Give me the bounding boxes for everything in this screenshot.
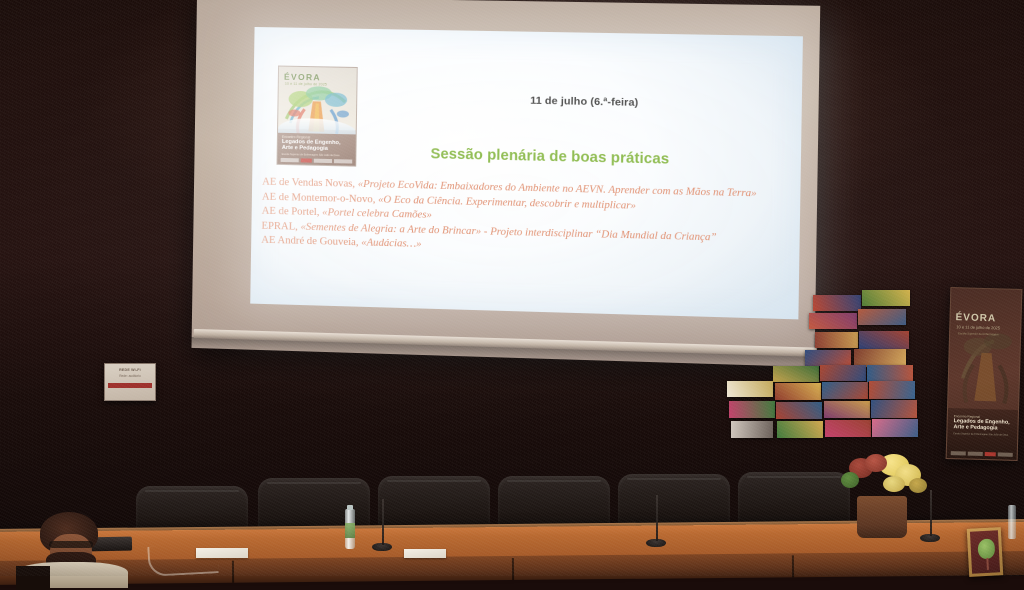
- power-cable: [147, 543, 218, 577]
- slide-poster-thumbnail: ÉVORA 10 e 11 de julho de 2025 Encontro …: [277, 66, 358, 167]
- poster-title: ÉVORA: [284, 72, 321, 83]
- wall-poster-footer: Encontro Regional Legados de Engenho, Ar…: [947, 408, 1018, 460]
- poster-footer-note: Escola Superior de Enfermagem São João d…: [282, 153, 352, 158]
- wall-poster-logo-strip: [951, 451, 1013, 457]
- wifi-sign-line1: REDE Wi-Fi: [108, 368, 152, 372]
- seated-attendee: [16, 512, 120, 576]
- collage-photo-tile: [822, 382, 868, 399]
- logo-mark: [281, 158, 299, 162]
- collage-photo-tile: [809, 313, 857, 329]
- slide-entry-school: AE de Vendas Novas,: [262, 177, 358, 190]
- logo-mark: [334, 159, 352, 163]
- microphone-stem: [656, 495, 658, 541]
- slide-entry-school: AE André de Gouveia,: [261, 235, 361, 249]
- collage-photo-tile: [731, 421, 773, 438]
- poster-logo-strip: [281, 158, 353, 164]
- person-jacket: [16, 566, 50, 590]
- collage-photo-tile: [825, 420, 871, 437]
- collage-photo-tile: [871, 400, 917, 418]
- bottle-cap: [347, 505, 353, 510]
- flower-arrangement: [835, 452, 931, 538]
- collage-photo-tile: [872, 419, 918, 437]
- logo-mark: [968, 452, 983, 456]
- collage-photo-tile: [859, 331, 909, 349]
- auditorium-scene: ÉVORA 10 e 11 de julho de 2025 Encontro …: [0, 0, 1024, 576]
- poster-subtitle: 10 e 11 de julho de 2025: [285, 82, 327, 87]
- person-glasses: [49, 541, 93, 548]
- collage-photo-tile: [813, 295, 861, 311]
- wall-photo-collage: [721, 287, 921, 450]
- microphone-stem: [382, 499, 384, 545]
- collage-photo-tile: [820, 365, 866, 381]
- slide-entry-school: AE de Montemor-o-Novo,: [262, 191, 378, 205]
- logo-mark: [314, 159, 332, 163]
- logo-mark-red: [985, 452, 996, 456]
- water-bottle: [345, 509, 355, 549]
- collage-photo-tile: [869, 381, 915, 399]
- table-panel-seam: [792, 555, 794, 577]
- collage-photo-tile: [776, 402, 822, 419]
- wifi-notice-sign: REDE Wi-Fi Rede: auditorio: [104, 363, 156, 401]
- collage-photo-tile: [805, 350, 851, 366]
- slide-entry-school: EPRAL,: [261, 220, 300, 232]
- wall-poster-footer-note: Escola Superior de Enfermagem São João d…: [953, 433, 1012, 438]
- collage-photo-tile: [815, 332, 858, 348]
- artwork-canvas: [970, 530, 1000, 573]
- table-panel-seam: [512, 558, 514, 580]
- slide-entry-title: «Portel celebra Camões»: [322, 207, 432, 221]
- flower-bloom-yellow: [883, 476, 905, 492]
- collage-photo-tile: [824, 401, 870, 418]
- slide-entry-title: «Sementes de Alegria: a Arte do Brincar»: [300, 221, 481, 237]
- collage-photo-tile: [867, 365, 913, 382]
- artwork-leaf-shape: [977, 538, 995, 559]
- slide-entry-title: «Audácias…»: [361, 238, 422, 251]
- collage-photo-tile: [729, 401, 775, 418]
- wifi-sign-accent-bar: [108, 383, 152, 388]
- collage-photo-tile: [727, 381, 773, 397]
- slide-date-line: 11 de julho (6.ª-feira): [456, 93, 714, 110]
- collage-photo-tile: [775, 383, 821, 400]
- flower-pot: [857, 496, 907, 538]
- logo-mark-red: [301, 159, 312, 163]
- collage-photo-tile: [858, 309, 906, 325]
- slide-entry-list: AE de Vendas Novas, «Projeto EcoVida: Em…: [261, 176, 784, 263]
- slide-entry-school: AE de Portel,: [262, 206, 323, 219]
- collage-photo-tile: [777, 421, 823, 438]
- projected-slide: ÉVORA 10 e 11 de julho de 2025 Encontro …: [250, 27, 803, 319]
- water-bottle-secondary: [1008, 505, 1016, 539]
- wifi-sign-line2: Rede: auditorio: [108, 374, 152, 378]
- logo-mark: [951, 451, 966, 455]
- slide-heading: Sessão plenária de boas práticas: [386, 145, 715, 169]
- collage-photo-tile: [862, 290, 910, 306]
- framed-artwork: [967, 527, 1003, 577]
- wall-poster-title: ÉVORA: [955, 312, 996, 324]
- artwork-stem-shape: [986, 558, 989, 570]
- collage-photo-tile: [773, 366, 819, 382]
- wall-event-poster: ÉVORA 10 e 11 de julho de 2025 Escola Su…: [946, 287, 1023, 461]
- flower-bloom-red: [865, 454, 887, 472]
- bottle-label: [345, 523, 355, 538]
- poster-footer: Encontro Regional Legados de Engenho, Ar…: [278, 133, 356, 166]
- logo-mark: [998, 452, 1013, 456]
- table-panel-seam: [232, 561, 234, 583]
- flower-foliage: [841, 472, 859, 488]
- flower-bloom-yellow: [909, 478, 927, 493]
- paper-sheet: [404, 549, 446, 558]
- conference-chair: [738, 472, 850, 528]
